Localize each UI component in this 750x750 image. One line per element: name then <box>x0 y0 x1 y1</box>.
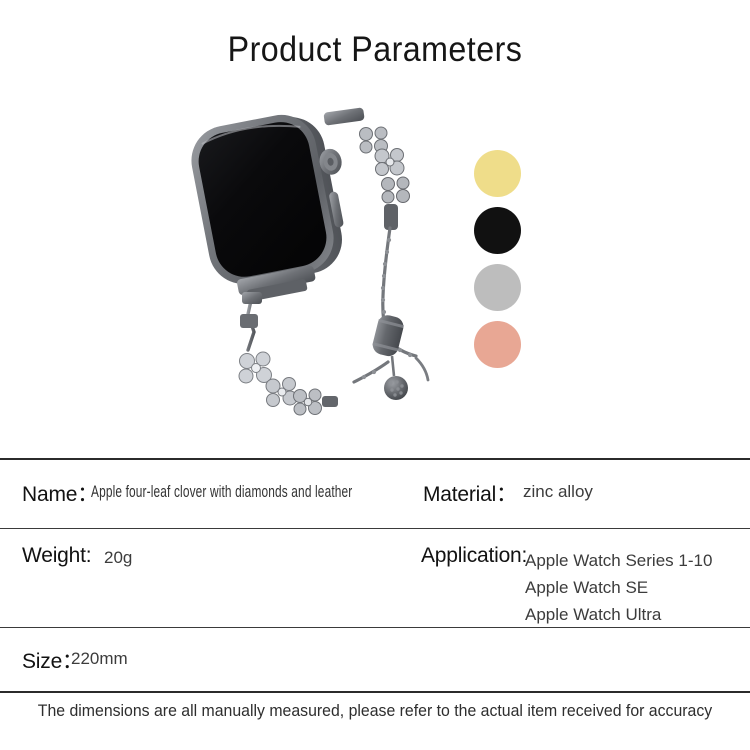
application-value: Apple Watch Series 1-10 <box>525 551 712 570</box>
name-value: Apple four-leaf clover with diamonds and… <box>91 482 352 502</box>
spec-table: Name： Apple four-leaf clover with diamon… <box>0 458 750 693</box>
material-value: zinc alloy <box>523 482 593 502</box>
divider-bottom <box>0 691 750 693</box>
footer-note: The dimensions are all manually measured… <box>15 702 735 721</box>
product-image <box>178 100 448 435</box>
spec-row-weight: Weight: 20g Application: Apple Watch Ser… <box>0 529 750 627</box>
swatch-black[interactable] <box>474 207 521 254</box>
weight-value: 20g <box>104 548 132 568</box>
hero-section <box>0 95 750 445</box>
application-value: Apple Watch Ultra <box>525 605 661 624</box>
application-label: Application: <box>421 544 527 568</box>
page-title: Product Parameters <box>30 30 720 70</box>
swatch-gold[interactable] <box>474 150 521 197</box>
name-label: Name： <box>22 478 98 508</box>
color-swatch-list <box>474 150 534 378</box>
application-value-list: Apple Watch Series 1-10 Apple Watch SE A… <box>525 547 712 628</box>
weight-label: Weight: <box>22 544 91 568</box>
application-value: Apple Watch SE <box>525 578 648 597</box>
size-value: 220mm <box>71 649 128 669</box>
spec-row-name: Name： Apple four-leaf clover with diamon… <box>0 460 750 528</box>
spec-row-size: Size： 220mm <box>0 628 750 691</box>
swatch-rose-gold[interactable] <box>474 321 521 368</box>
swatch-silver[interactable] <box>474 264 521 311</box>
material-label: Material： <box>423 478 517 508</box>
